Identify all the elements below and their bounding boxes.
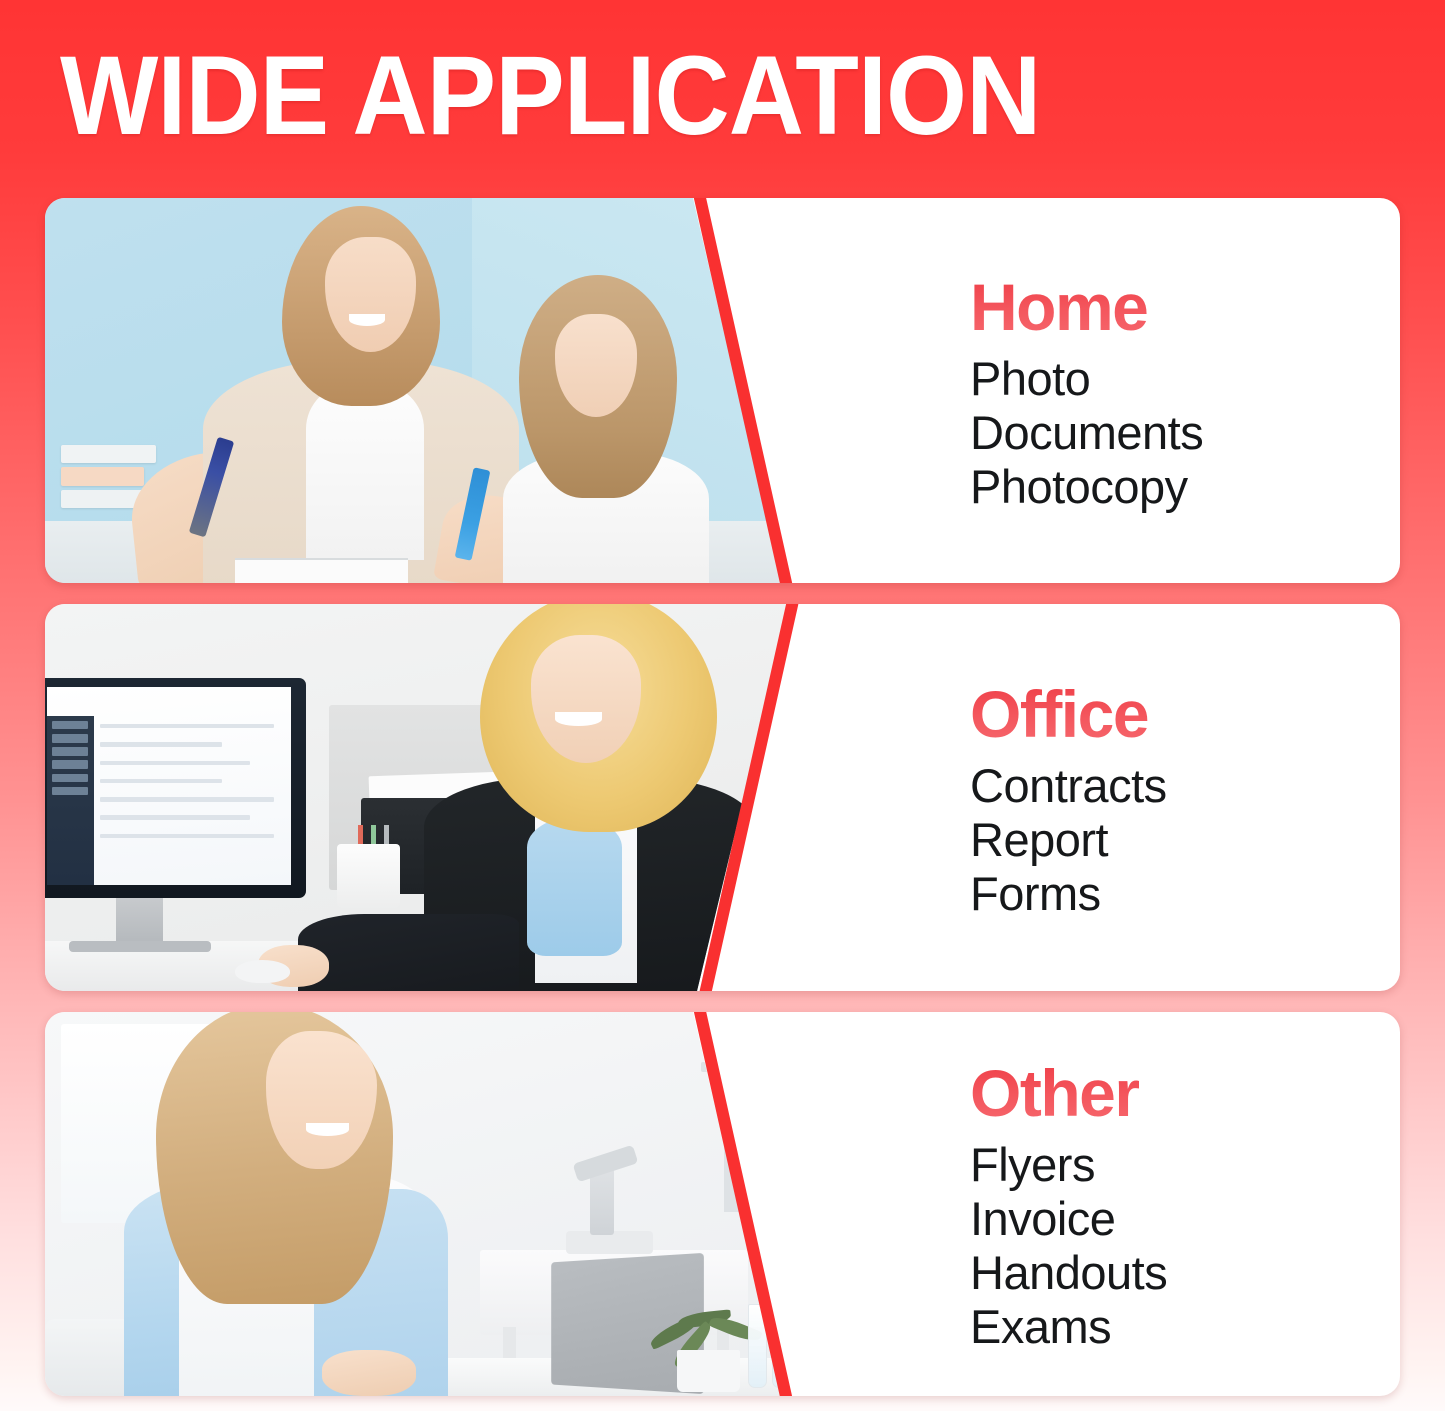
card-heading-other: Other xyxy=(970,1054,1139,1132)
list-item: Exams xyxy=(970,1300,1400,1354)
list-item: Photo xyxy=(970,352,1400,406)
woman-arm xyxy=(298,914,519,991)
text-pane-home: Home Photo Documents Photocopy xyxy=(845,198,1400,583)
card-heading-office: Office xyxy=(970,675,1148,753)
screen-sidebar xyxy=(47,716,94,884)
monitor-stand xyxy=(116,898,163,944)
application-card-home: Home Photo Documents Photocopy xyxy=(45,198,1400,583)
list-item: Photocopy xyxy=(970,460,1400,514)
list-item: Report xyxy=(970,813,1400,867)
adult-shirt xyxy=(306,383,425,560)
list-item: Contracts xyxy=(970,759,1400,813)
application-card-other: Other Flyers Invoice Handouts Exams xyxy=(45,1012,1400,1396)
coffee-mug xyxy=(337,844,400,910)
screen-text-lines xyxy=(100,724,274,871)
woman-bow-tie xyxy=(527,817,622,956)
plant-pot xyxy=(677,1350,740,1392)
list-item: Flyers xyxy=(970,1138,1400,1192)
infographic-root: WIDE APPLICATION xyxy=(0,0,1445,1411)
list-item: Forms xyxy=(970,867,1400,921)
card-heading-home: Home xyxy=(970,268,1147,346)
text-pane-other: Other Flyers Invoice Handouts Exams xyxy=(845,1012,1400,1396)
adult-smile xyxy=(349,314,385,326)
list-item: Documents xyxy=(970,406,1400,460)
card-list-other: Flyers Invoice Handouts Exams xyxy=(970,1138,1400,1354)
computer-mouse xyxy=(235,960,290,983)
card-list-home: Photo Documents Photocopy xyxy=(970,352,1400,514)
notepad xyxy=(235,558,409,583)
woman-clasped-hands xyxy=(322,1350,417,1396)
application-card-office: Office Contracts Report Forms xyxy=(45,604,1400,991)
list-item: Handouts xyxy=(970,1246,1400,1300)
monitor-base xyxy=(69,941,211,953)
text-pane-office: Office Contracts Report Forms xyxy=(845,604,1400,991)
chair xyxy=(45,1319,124,1396)
page-title: WIDE APPLICATION xyxy=(60,38,1297,153)
list-item: Invoice xyxy=(970,1192,1400,1246)
card-list-office: Contracts Report Forms xyxy=(970,759,1400,921)
